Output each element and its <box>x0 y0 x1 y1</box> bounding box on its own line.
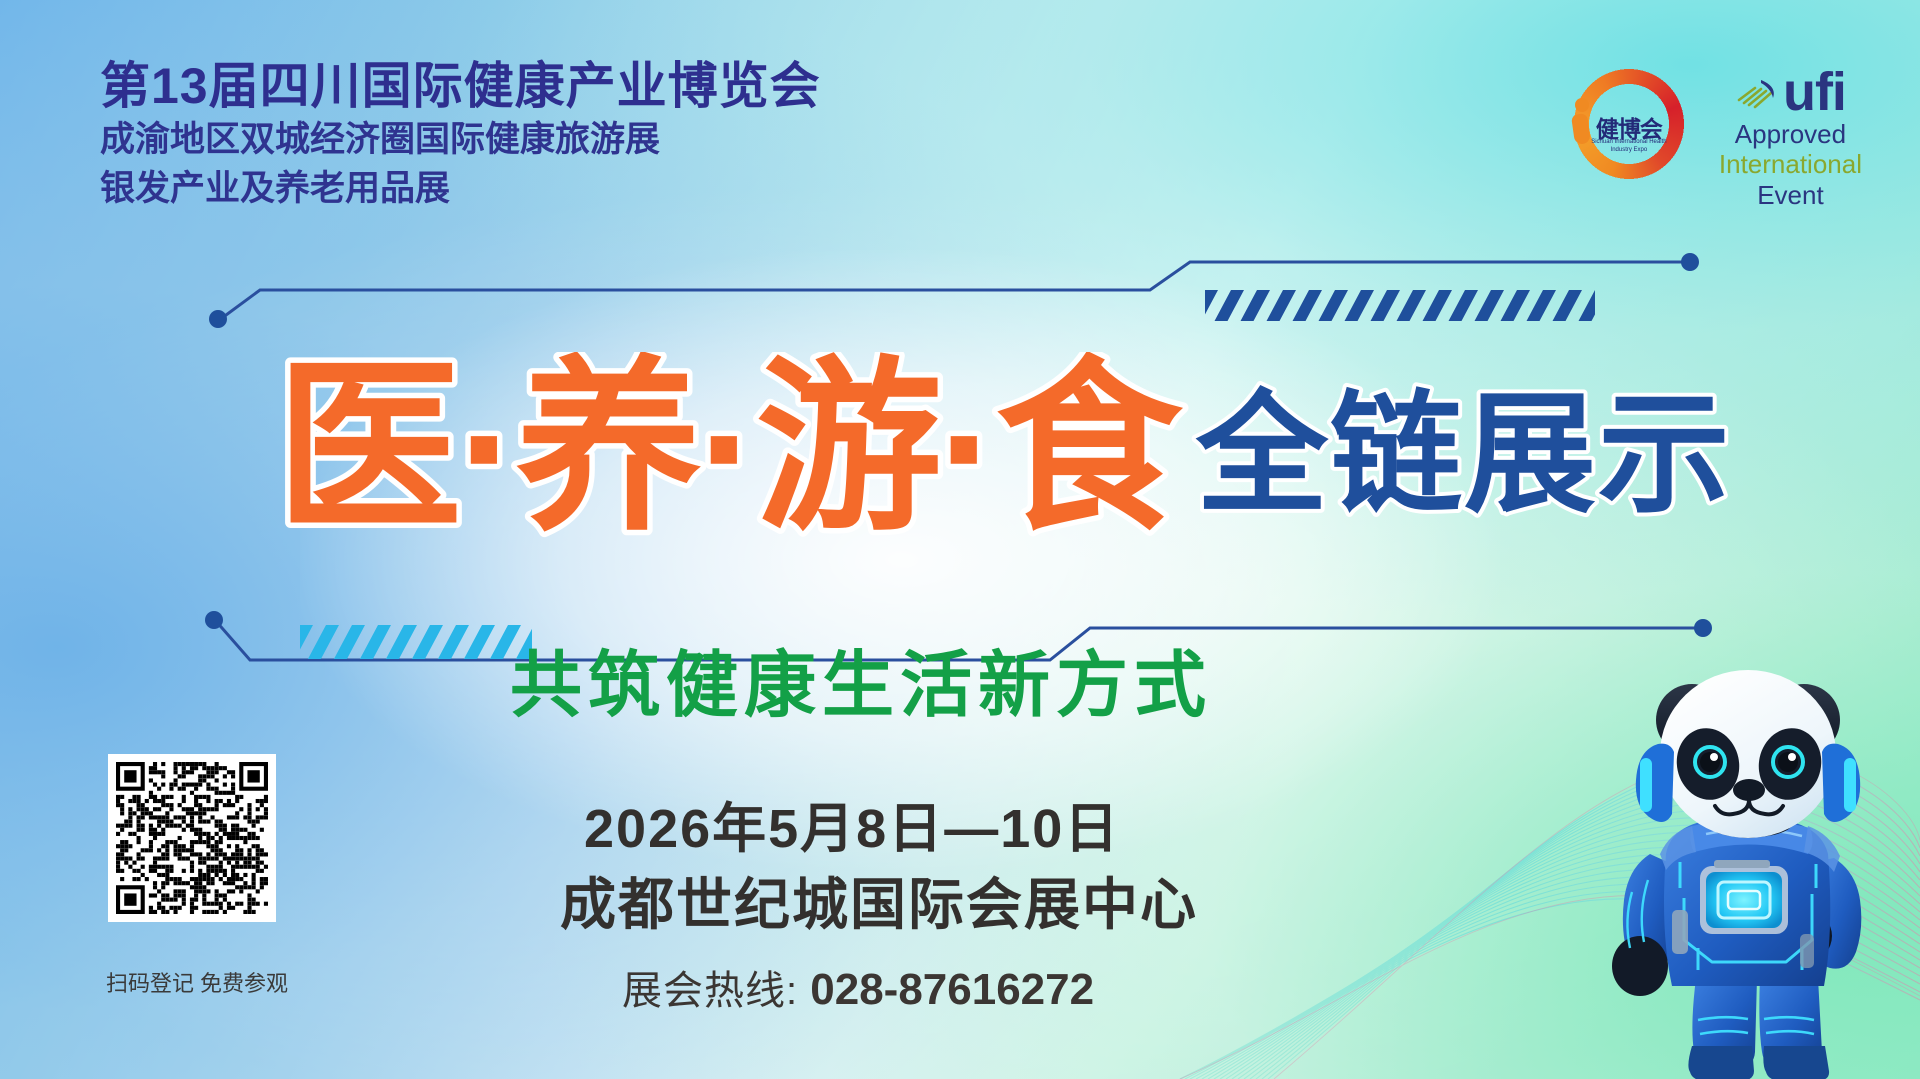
ufi-line-international: International <box>1719 149 1862 180</box>
mascot-chest-panel <box>1700 860 1788 934</box>
header-subtitle-2: 银发产业及养老用品展 <box>100 167 821 212</box>
panda-astronaut-mascot <box>1588 648 1918 1079</box>
ufi-line-event: Event <box>1719 180 1862 211</box>
hotline-number: 028-87616272 <box>810 965 1094 1014</box>
qr-code-image <box>116 762 268 914</box>
tagline: 共筑健康生活新方式 <box>510 626 1212 731</box>
mascot-legs <box>1688 978 1829 1079</box>
expo-logo-person-head-icon <box>1575 98 1589 112</box>
headline-block: .hl-orange{ font-family:"Liberation Sans… <box>0 352 1920 582</box>
mascot-nose <box>1733 779 1765 801</box>
registration-qr-code[interactable] <box>108 754 276 922</box>
logo-group: 健博会 Sichuan International Health Industr… <box>1571 58 1862 211</box>
mascot-left-paw <box>1612 936 1668 996</box>
headline-orange-text: 医·养·游·食 <box>276 352 1184 552</box>
event-hotline: 展会热线: 028-87616272 <box>622 958 1094 1016</box>
hotline-label: 展会热线: <box>622 969 798 1013</box>
hatch-band-top <box>1205 290 1595 321</box>
event-date: 2026年5月8日—10日 <box>584 784 1120 863</box>
expo-logo: 健博会 Sichuan International Health Industr… <box>1571 66 1687 182</box>
event-venue: 成都世纪城国际会展中心 <box>560 860 1198 941</box>
ufi-logo: ufi Approved International Event <box>1719 68 1862 211</box>
header-block: 第13届四川国际健康产业博览会 成渝地区双城经济圈国际健康旅游展 银发产业及养老… <box>100 58 821 212</box>
expo-logo-name-en-line1: Sichuan International Health <box>1591 139 1666 145</box>
center-glow <box>300 250 1500 870</box>
header-subtitle-1: 成渝地区双城经济圈国际健康旅游展 <box>100 118 821 163</box>
ufi-wordmark: ufi <box>1783 68 1846 117</box>
mascot-head <box>1636 670 1860 838</box>
ufi-line-approved: Approved <box>1719 119 1862 150</box>
ufi-swoosh-icon <box>1735 74 1781 110</box>
headline-blue-text: 全链展示 <box>1195 381 1732 528</box>
frame-line-top <box>209 253 1699 328</box>
expo-banner: 第13届四川国际健康产业博览会 成渝地区双城经济圈国际健康旅游展 银发产业及养老… <box>0 0 1920 1079</box>
expo-logo-name-en-line2: Industry Expo <box>1611 147 1648 153</box>
page-title: 第13届四川国际健康产业博览会 <box>100 58 821 114</box>
expo-logo-name-en: Sichuan International Health Industry Ex… <box>1569 138 1689 154</box>
mascot-torso <box>1660 814 1840 986</box>
qr-caption: 扫码登记 免费参观 <box>104 966 290 998</box>
hatch-band-bottom <box>300 625 532 659</box>
